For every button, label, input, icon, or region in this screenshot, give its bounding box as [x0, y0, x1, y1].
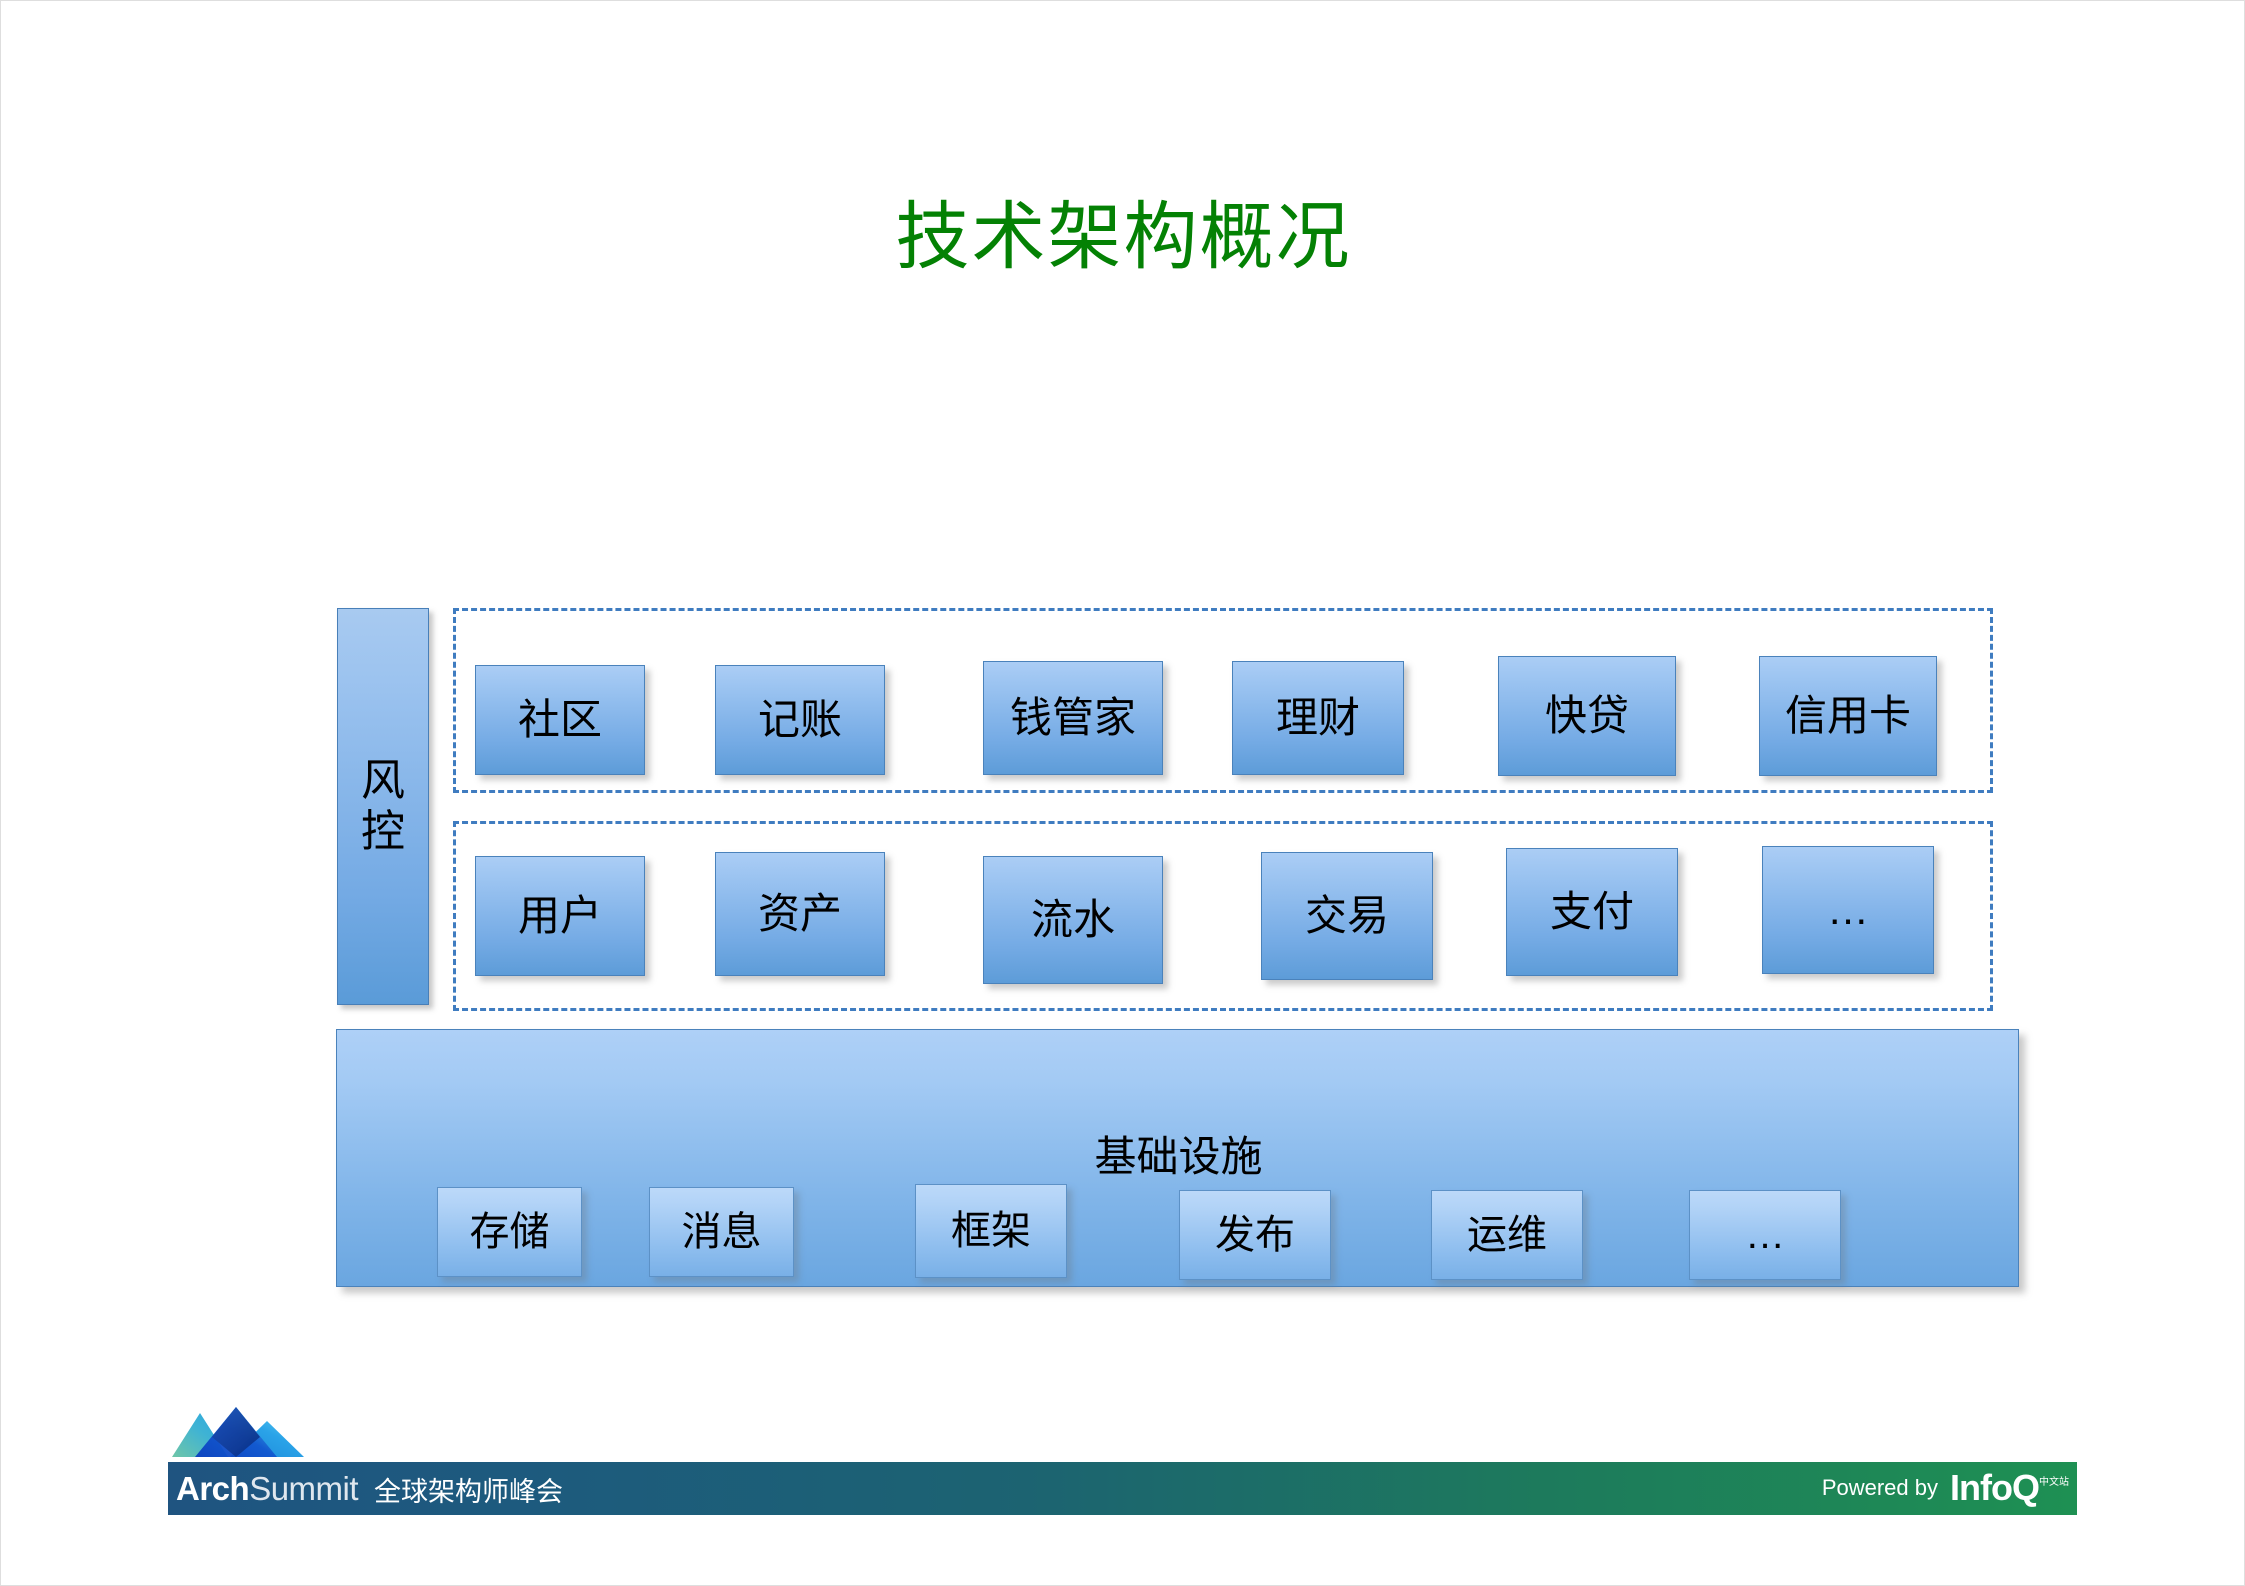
core-tile-jiaoyi[interactable]: 交易: [1261, 852, 1433, 980]
app-tile-label: 记账: [758, 699, 842, 741]
infra-tile-kuangjia[interactable]: 框架: [915, 1184, 1067, 1278]
infrastructure-panel: 基础设施 存储 消息 框架 发布 运维 …: [336, 1029, 2019, 1287]
core-tile-label: …: [1827, 889, 1869, 931]
app-tile-xinyongka[interactable]: 信用卡: [1759, 656, 1937, 776]
infra-tile-cunchu[interactable]: 存储: [437, 1187, 582, 1277]
infra-tile-label: 消息: [682, 1212, 762, 1252]
core-tile-yonghu[interactable]: 用户: [475, 856, 645, 976]
core-tile-zichan[interactable]: 资产: [715, 852, 885, 976]
risk-control-char-2: 控: [361, 807, 405, 858]
app-tile-qianguanjia[interactable]: 钱管家: [983, 661, 1163, 775]
page-title: 技术架构概况: [1, 196, 2245, 277]
core-tile-liushui[interactable]: 流水: [983, 856, 1163, 984]
infra-tile-yunwei[interactable]: 运维: [1431, 1190, 1583, 1280]
core-tile-label: 交易: [1305, 895, 1389, 937]
infra-tile-fabu[interactable]: 发布: [1179, 1190, 1331, 1280]
app-tile-jizhang[interactable]: 记账: [715, 665, 885, 775]
risk-control-label: 风 控: [361, 756, 405, 857]
app-tile-label: 社区: [518, 699, 602, 741]
infra-tile-label: 存储: [470, 1212, 550, 1252]
infra-tile-label: 框架: [951, 1211, 1031, 1251]
app-tile-label: 钱管家: [1010, 697, 1136, 739]
brand-chinese-text: 全球架构师峰会: [374, 1470, 563, 1509]
core-tile-label: 支付: [1550, 891, 1634, 933]
infrastructure-title: 基础设施: [337, 1136, 2020, 1178]
app-tile-label: 信用卡: [1785, 695, 1911, 737]
infra-tile-more[interactable]: …: [1689, 1190, 1841, 1280]
infoq-logo-text: InfoQ: [1950, 1467, 2039, 1509]
app-tile-label: 快贷: [1545, 695, 1629, 737]
app-tile-shequ[interactable]: 社区: [475, 665, 645, 775]
infra-tile-label: 运维: [1467, 1215, 1547, 1255]
risk-control-char-1: 风: [361, 756, 405, 807]
powered-by-label: Powered by: [1822, 1475, 1938, 1501]
app-tile-label: 理财: [1276, 697, 1360, 739]
powered-by-infoq: Powered by InfoQ 中文站: [1822, 1467, 2069, 1509]
brand-arch-text: Arch: [176, 1470, 249, 1508]
infra-tile-label: …: [1745, 1215, 1785, 1255]
risk-control-bar[interactable]: 风 控: [337, 608, 429, 1005]
infra-tile-xiaoxi[interactable]: 消息: [649, 1187, 794, 1277]
slide-canvas: 技术架构概况 风 控 社区 记账 钱管家 理财 快贷 信用卡 用户 资产 流水 …: [0, 0, 2245, 1586]
archsummit-mountain-icon: [172, 1407, 304, 1463]
core-tile-zhifu[interactable]: 支付: [1506, 848, 1678, 976]
core-tile-label: 资产: [758, 893, 842, 935]
core-tile-label: 用户: [518, 895, 602, 937]
infra-tile-label: 发布: [1215, 1215, 1295, 1255]
core-tile-more[interactable]: …: [1762, 846, 1934, 974]
app-tile-licai[interactable]: 理财: [1232, 661, 1404, 775]
core-tile-label: 流水: [1031, 899, 1115, 941]
infoq-suffix-text: 中文站: [2039, 1473, 2069, 1488]
archsummit-wordmark: Arch Summit 全球架构师峰会: [176, 1469, 563, 1509]
brand-summit-text: Summit: [249, 1470, 358, 1508]
app-tile-kuaidai[interactable]: 快贷: [1498, 656, 1676, 776]
